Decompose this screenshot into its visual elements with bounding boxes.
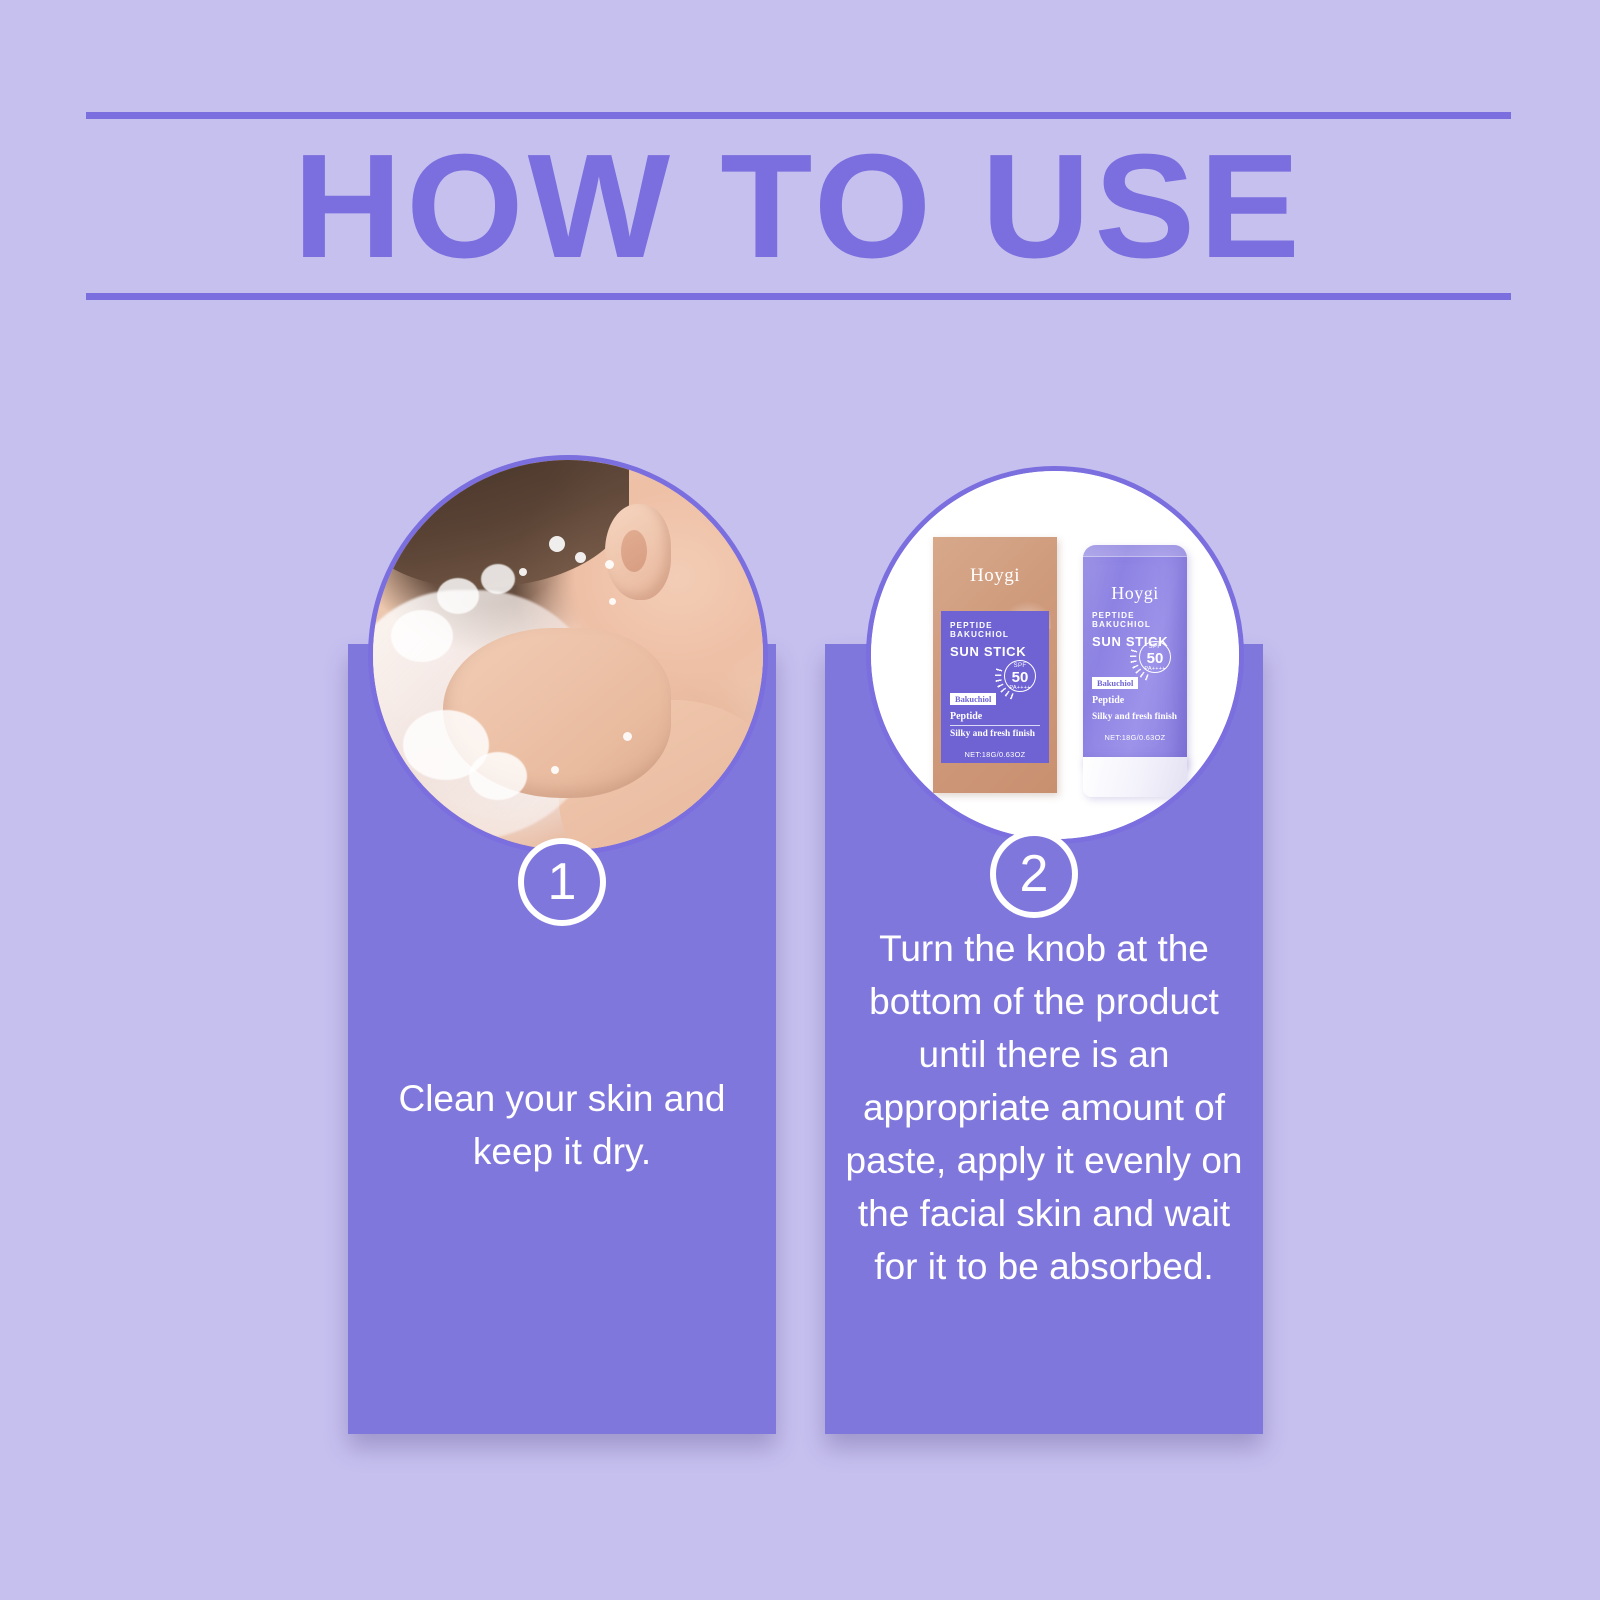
step-1-text: Clean your skin and keep it dry. [348,1072,776,1178]
box-brand-label: Hoygi [933,565,1057,587]
header-rule-bottom [86,293,1511,300]
product-stick-base [1083,757,1187,797]
box-text-peptide: Peptide [950,711,1040,722]
how-to-use-page: HOW TO USE Clean your skin and keep it d… [0,0,1600,1600]
splash-blob [469,752,527,800]
water-drop [549,536,565,552]
splash-blob [481,564,515,594]
step-2-media-circle: Hoygi PEPTIDE BAKUCHIOL SUN STICK Bakuch… [866,466,1244,844]
page-title: HOW TO USE [72,119,1526,293]
spf-value: 50 [1130,650,1180,667]
stick-line-peptide-bakuchiol: PEPTIDE BAKUCHIOL [1092,611,1178,629]
water-drop [609,598,616,605]
box-text-net-weight: NET:18G/0.63OZ [950,750,1040,759]
spf-sun-icon: SPF 50 PA++++ [1130,632,1180,682]
box-text-silky: Silky and fresh finish [950,725,1040,739]
box-front-label: PEPTIDE BAKUCHIOL SUN STICK Bakuchiol Pe… [941,611,1049,763]
product-box: Hoygi PEPTIDE BAKUCHIOL SUN STICK Bakuch… [933,537,1057,793]
water-drop [623,732,632,741]
stick-front-label: PEPTIDE BAKUCHIOL SUN STICK Bakuchiol Pe… [1092,611,1178,742]
water-drop [551,766,559,774]
water-drop [605,560,614,569]
pa-rating: PA++++ [995,685,1045,691]
header: HOW TO USE [86,112,1511,300]
box-line-peptide-bakuchiol: PEPTIDE BAKUCHIOL [950,621,1040,639]
step-1-badge: 1 [518,838,606,926]
face-washing-photo [373,460,763,850]
stick-brand-label: Hoygi [1083,583,1187,604]
spf-value: 50 [995,669,1045,686]
step-2-text: Turn the knob at the bottom of the produ… [825,922,1263,1293]
step-1-media-circle [368,455,768,855]
water-drop [575,552,586,563]
ear-shape [605,504,671,600]
stick-text-peptide: Peptide [1092,695,1178,706]
box-chip-bakuchiol: Bakuchiol [950,693,996,705]
stick-text-silky: Silky and fresh finish [1092,709,1178,722]
stick-text-net-weight: NET:18G/0.63OZ [1092,733,1178,742]
step-2-badge: 2 [990,830,1078,918]
splash-blob [391,610,453,662]
water-drop [519,568,527,576]
pa-rating: PA++++ [1130,666,1180,672]
product-stick: Hoygi PEPTIDE BAKUCHIOL SUN STICK Bakuch… [1083,545,1187,767]
product-photo: Hoygi PEPTIDE BAKUCHIOL SUN STICK Bakuch… [871,471,1239,839]
splash-blob [437,578,479,614]
header-rule-top [86,112,1511,119]
spf-sun-icon: SPF 50 PA++++ [995,651,1045,701]
